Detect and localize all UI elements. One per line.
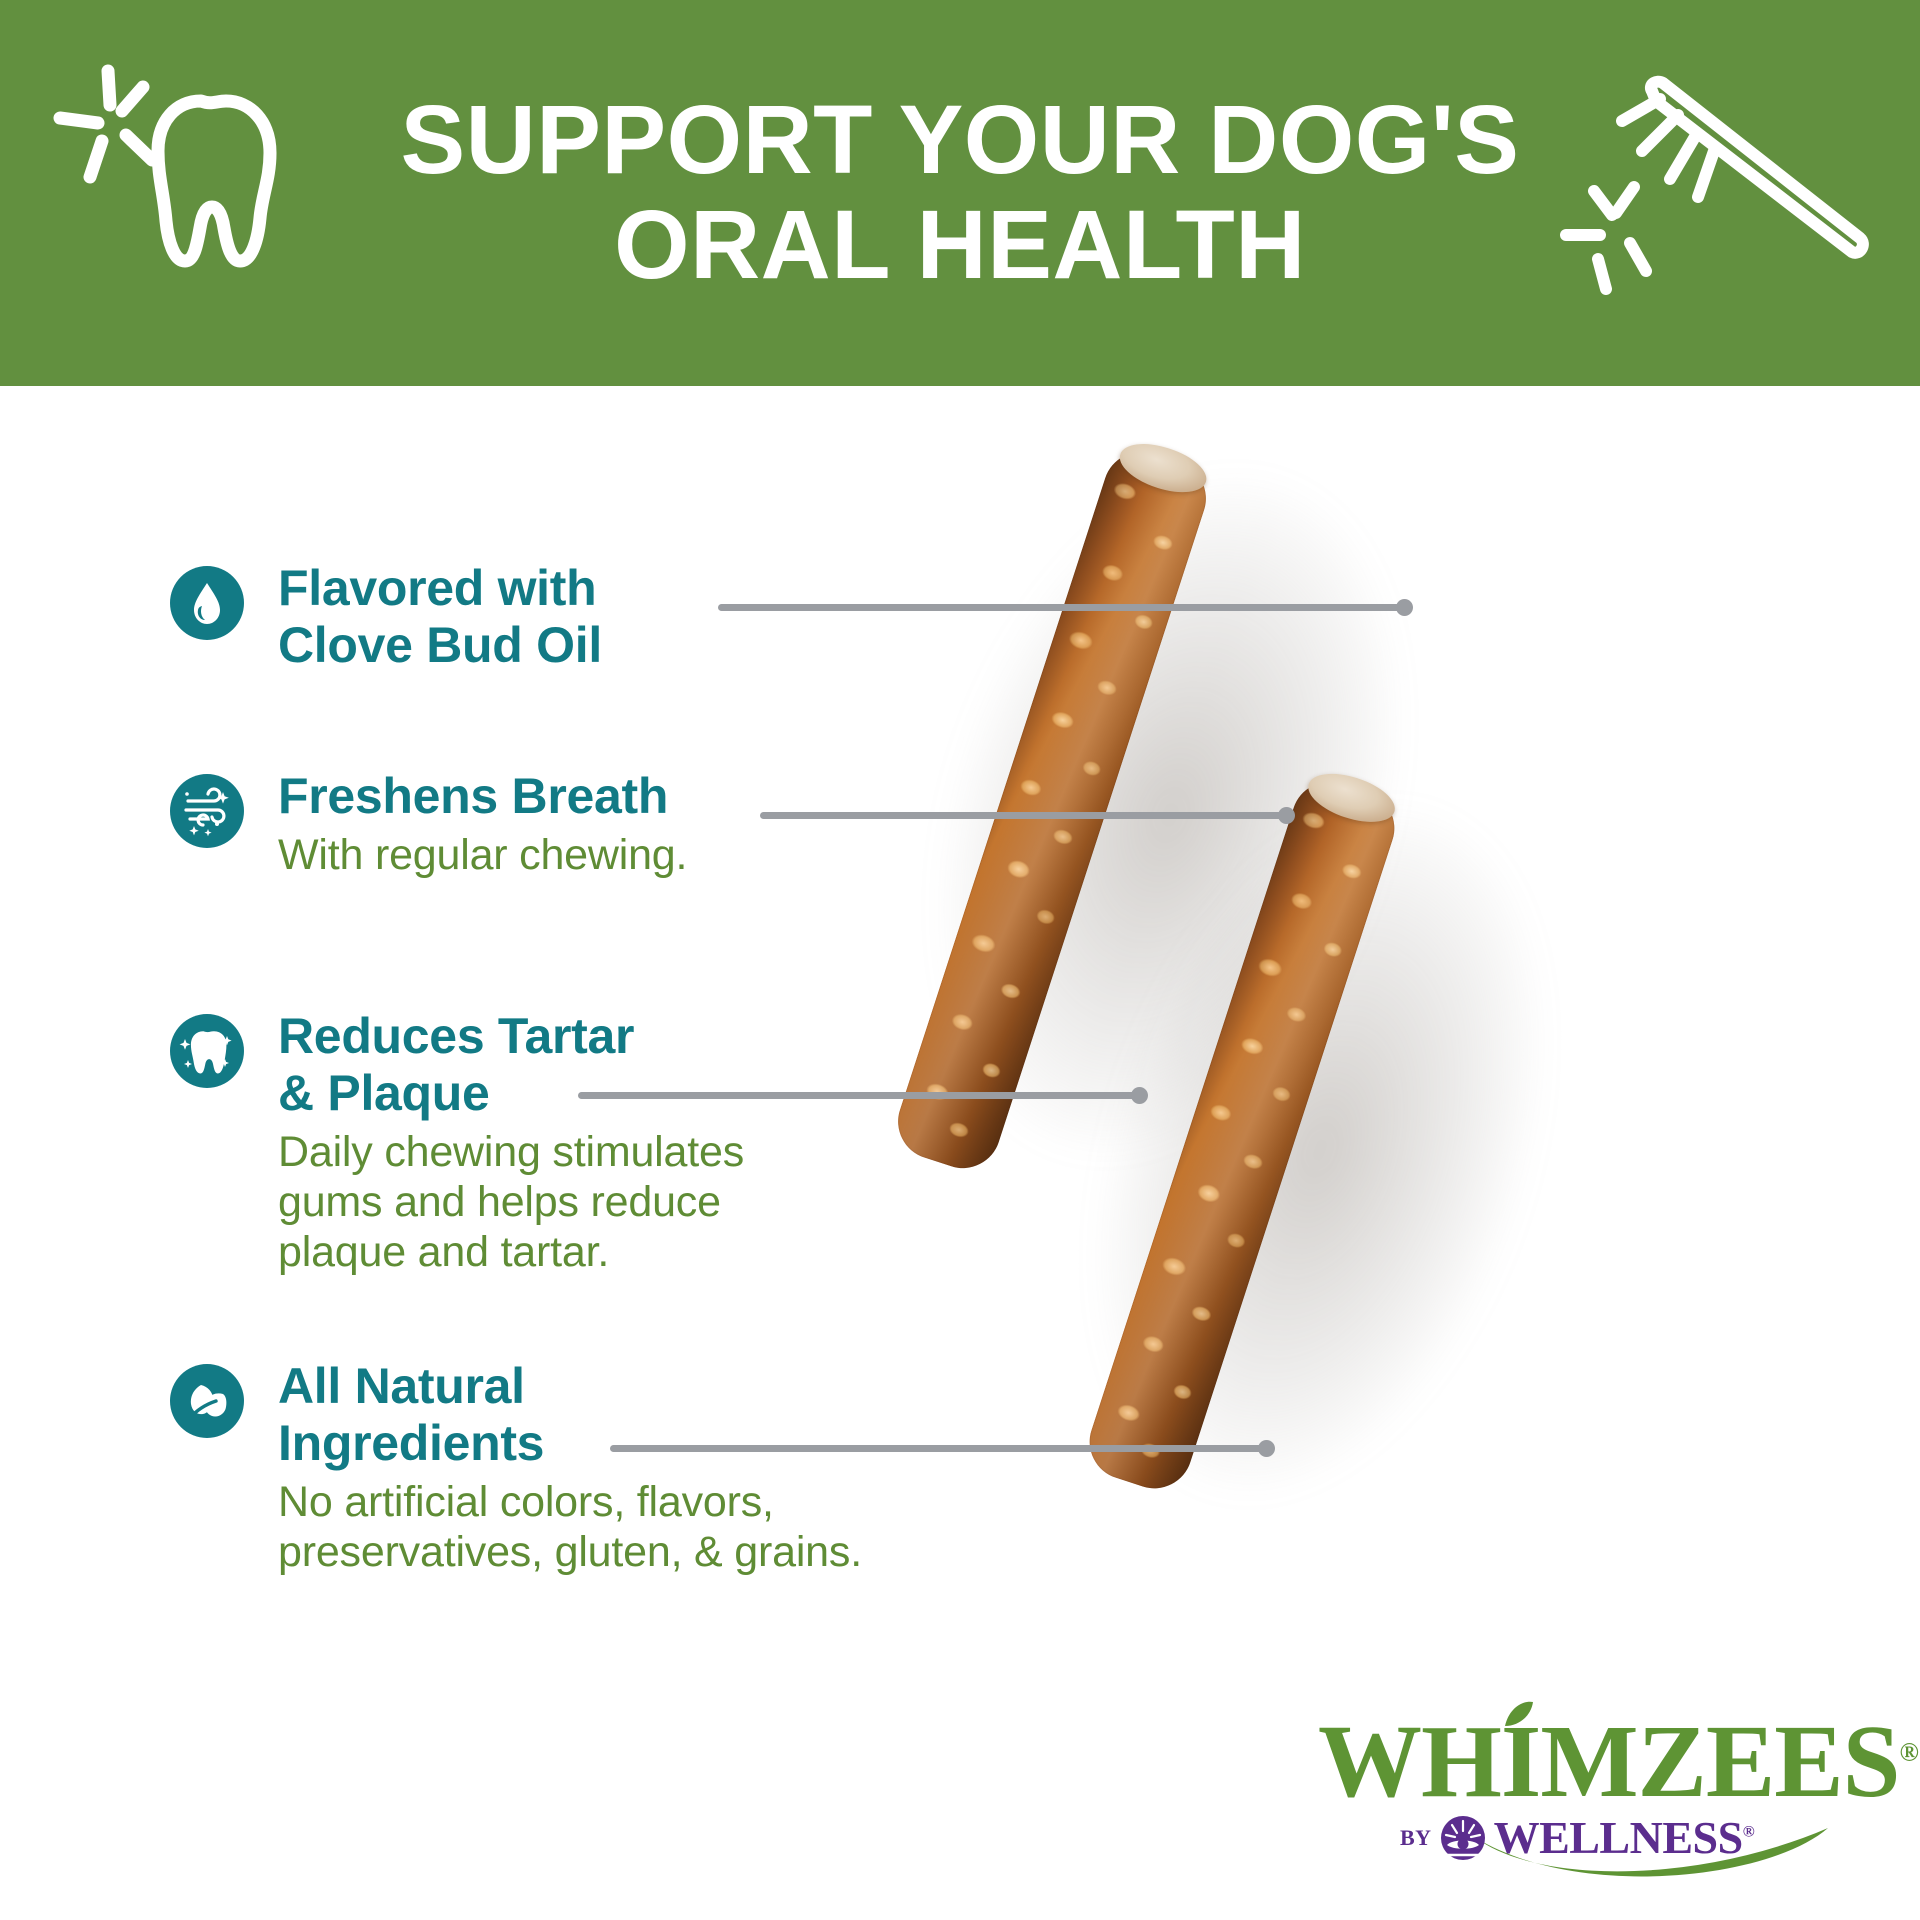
title-line-2: ORAL HEALTH <box>370 193 1550 298</box>
feature-title-line-2: & Plaque <box>278 1065 490 1121</box>
feature-text: Reduces Tartar & Plaque Daily chewing st… <box>278 1008 1038 1278</box>
toothbrush-sparkle-icon <box>1560 55 1890 295</box>
header-banner: SUPPORT YOUR DOG'S ORAL HEALTH <box>0 0 1920 386</box>
feature-title-line-1: Reduces Tartar <box>278 1008 634 1064</box>
feature-text: All Natural Ingredients No artificial co… <box>278 1358 1038 1578</box>
feature-subtitle: Daily chewing stimulates gums and helps … <box>278 1128 1038 1278</box>
tooth-sparkle-icon <box>40 55 300 285</box>
logo-leaf-accent <box>1499 1696 1539 1736</box>
feature-title-line-1: All Natural <box>278 1358 525 1414</box>
brand-logo: WHIMZEES® BY <box>1318 1710 1878 1890</box>
feature-title-line-2: Ingredients <box>278 1415 544 1471</box>
feature-subtitle: No artificial colors, flavors, preservat… <box>278 1478 1038 1578</box>
logo-brand-text: WHIMZEES <box>1318 1704 1899 1819</box>
feature-text: Flavored with Clove Bud Oil <box>278 560 1038 674</box>
logo-registered-mark: ® <box>1899 1737 1917 1766</box>
sparkling-tooth-icon <box>170 1014 244 1088</box>
leaf-icon <box>170 1364 244 1438</box>
feature-title-line-1: Flavored with <box>278 560 596 616</box>
fresh-air-sparkle-icon <box>170 774 244 848</box>
title-line-1: SUPPORT YOUR DOG'S <box>400 85 1519 194</box>
page-title: SUPPORT YOUR DOG'S ORAL HEALTH <box>370 88 1550 298</box>
water-drop-icon <box>170 566 244 640</box>
logo-wordmark: WHIMZEES® <box>1318 1710 1878 1814</box>
logo-by-wellness: BY WELLNESS® <box>1400 1814 1754 1862</box>
logo-wellness-text: WELLNESS® <box>1494 1815 1755 1861</box>
wellness-sun-icon <box>1439 1814 1487 1862</box>
feature-subtitle: With regular chewing. <box>278 831 1038 881</box>
infographic-canvas: SUPPORT YOUR DOG'S ORAL HEALTH <box>0 0 1920 1920</box>
feature-text: Freshens Breath With regular chewing. <box>278 768 1038 881</box>
feature-title-line-2: Clove Bud Oil <box>278 617 602 673</box>
logo-by-label: BY <box>1400 1825 1432 1851</box>
feature-title-line-1: Freshens Breath <box>278 768 668 824</box>
